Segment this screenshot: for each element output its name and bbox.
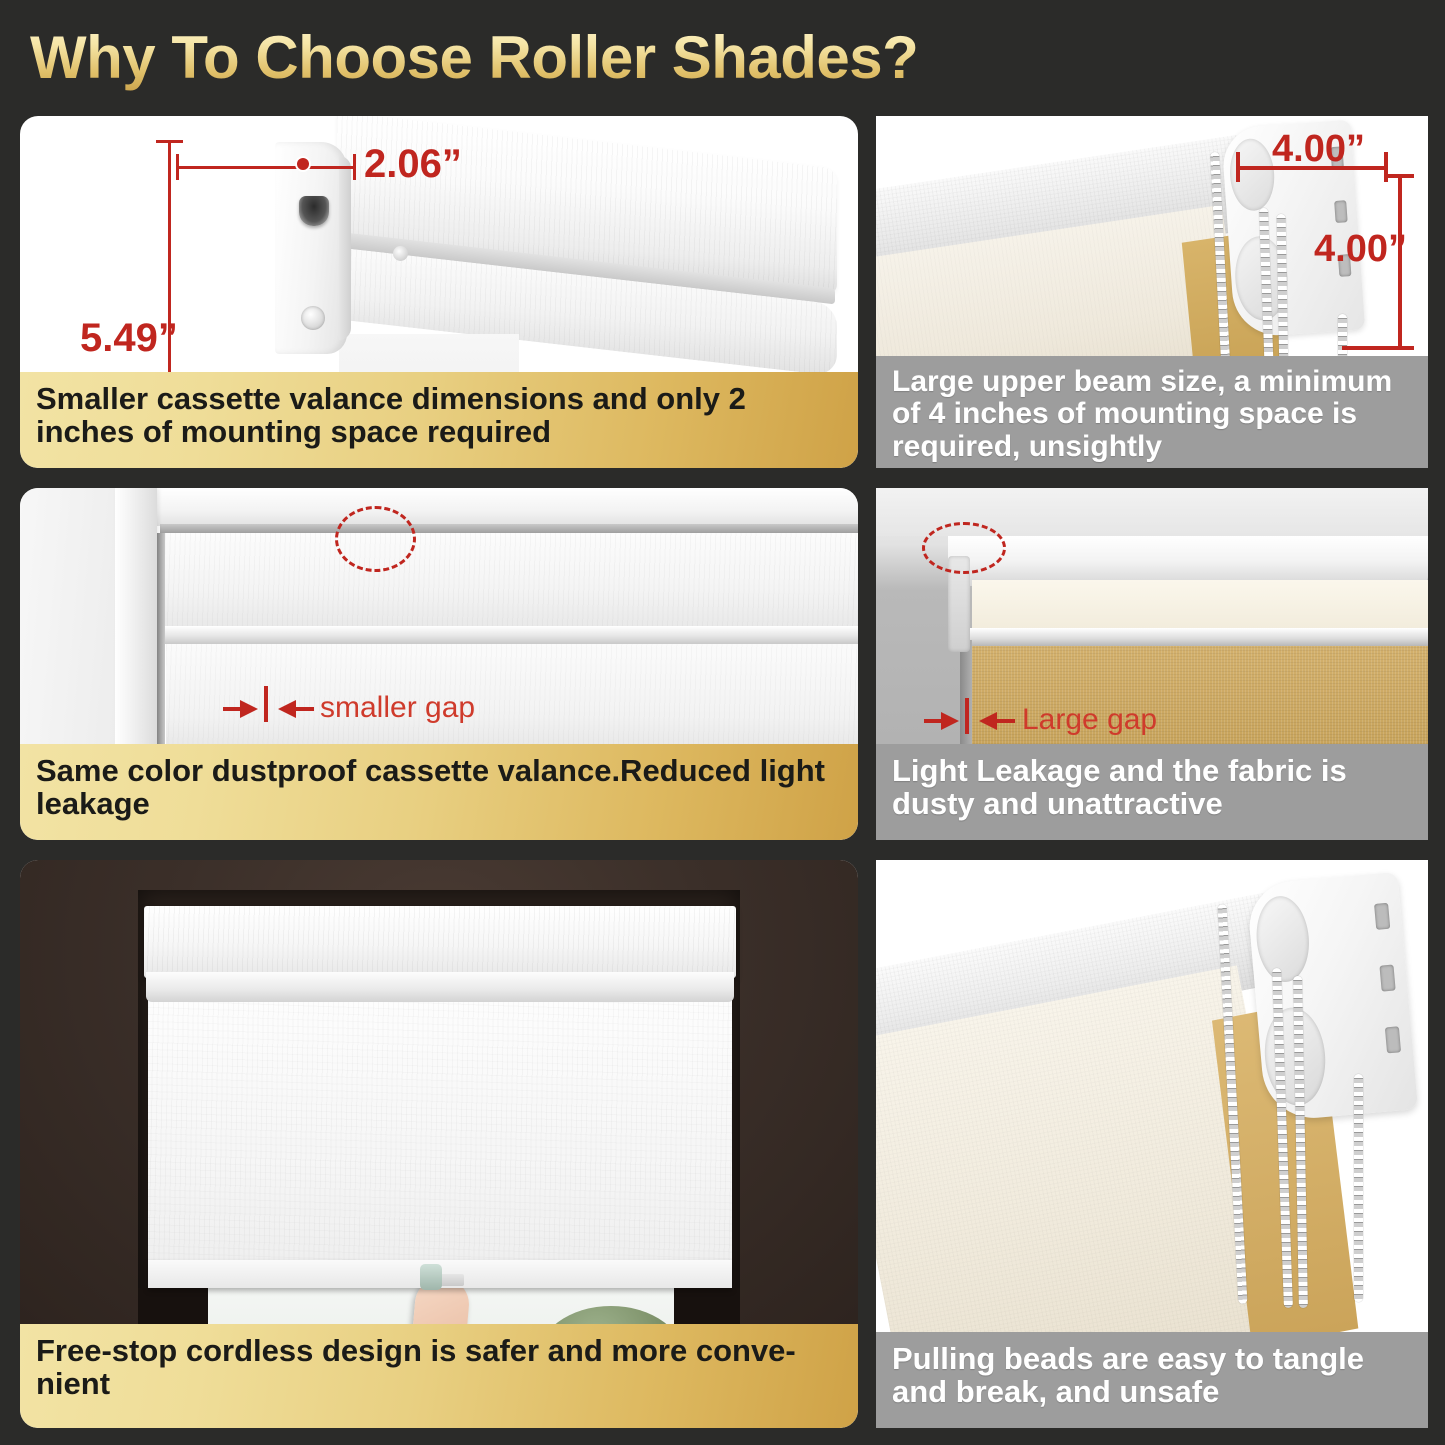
valance-slot-icon — [299, 196, 329, 226]
panel-caption: Light Leakage and the fabric is dusty an… — [876, 744, 1428, 840]
bead-chain-icon — [1354, 1074, 1363, 1302]
panel-con-light-leakage: Large gap Light Leakage and the fabric i… — [876, 488, 1428, 840]
panel-con-large-beam: 4.00” 4.00” Large upper beam size, a min… — [876, 116, 1428, 468]
panel-pro-cordless-design: Free-stop cordless design is safer and m… — [20, 860, 858, 1428]
page-title: Why To Choose Roller Shades? — [30, 22, 1030, 94]
gap-label: smaller gap — [320, 691, 475, 725]
shade-upper-panel — [160, 533, 858, 626]
depth-tick-right — [353, 154, 356, 180]
gap-arrow-tail-left — [924, 719, 942, 723]
shade-cream-band — [972, 580, 1428, 630]
height-dimension-label: 5.49” — [80, 316, 178, 361]
panel-caption: Pulling beads are easy to tangle and bre… — [876, 1332, 1428, 1428]
panel-pro-dustproof-valance: smaller gap Same color dustproof cassett… — [20, 488, 858, 840]
valance-screw-icon — [301, 306, 325, 330]
width-dimension-label: 4.00” — [1272, 128, 1365, 171]
panel-caption: Free-stop cordless design is safer and m… — [20, 1324, 858, 1428]
gap-arrow-tail-right — [296, 707, 314, 711]
depth-dimension-label: 2.06” — [364, 142, 462, 187]
valance-rail — [160, 524, 858, 533]
gap-arrow-right-icon — [240, 700, 258, 718]
gap-marker — [965, 698, 969, 734]
height-tick-bottom — [1342, 346, 1414, 350]
shade-mid-bar — [160, 626, 858, 644]
gap-arrow-left-icon — [278, 700, 296, 718]
panel-caption: Smaller cassette valance dimensions and … — [20, 372, 858, 468]
gap-arrow-tail-right — [997, 719, 1015, 723]
panel-con-pulling-beads: Pulling beads are easy to tangle and bre… — [876, 860, 1428, 1428]
cassette-valance — [144, 906, 736, 978]
window-side-frame — [115, 488, 157, 748]
depth-origin-dot-icon — [297, 158, 309, 170]
width-tick-left — [1236, 152, 1240, 182]
shade-lower-panel — [166, 644, 858, 748]
panel-caption: Same color dustproof cassette valance.Re… — [20, 744, 858, 840]
panel-caption: Large upper beam size, a minimum of 4 in… — [876, 356, 1428, 468]
cassette-valance-lip — [146, 972, 734, 1002]
gap-arrow-right-icon — [941, 712, 959, 730]
highlight-circle-icon — [922, 522, 1006, 574]
shade-side-edge — [157, 533, 165, 748]
gap-label: Large gap — [1022, 703, 1157, 737]
height-tick-top — [156, 140, 183, 143]
wall-left — [20, 488, 125, 748]
roller-tube — [948, 536, 1428, 586]
depth-dimension-line — [176, 166, 356, 169]
shade-rail — [960, 628, 1428, 646]
infographic-page: Why To Choose Roller Shades? 5.49” 2.06” — [0, 0, 1445, 1445]
shade-fabric — [148, 1000, 732, 1288]
window-head-trim — [157, 488, 858, 526]
gap-arrow-tail-left — [223, 707, 241, 711]
gap-arrow-left-icon — [979, 712, 997, 730]
hand-grip — [420, 1264, 442, 1290]
mounting-bracket — [1246, 872, 1418, 1122]
panel-pro-cassette-dimensions: 5.49” 2.06” Smaller cassette valance dim… — [20, 116, 858, 468]
valance-screw-small-icon — [393, 246, 408, 261]
height-dimension-label: 4.00” — [1314, 228, 1407, 271]
valance-profile — [275, 134, 835, 369]
highlight-circle-icon — [335, 506, 416, 572]
height-tick-top — [1386, 174, 1414, 178]
gap-marker — [264, 686, 268, 722]
depth-tick-left — [176, 154, 179, 180]
bracket-holes — [1350, 899, 1404, 1088]
